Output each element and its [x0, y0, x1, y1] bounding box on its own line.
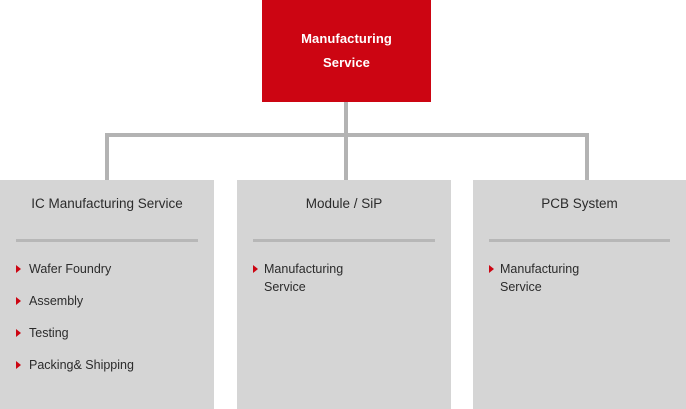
triangle-bullet-icon: [16, 265, 21, 273]
list-item-label: Wafer Foundry: [29, 262, 111, 276]
triangle-bullet-icon: [16, 329, 21, 337]
root-node-manufacturing-service[interactable]: Manufacturing Service: [262, 0, 431, 102]
list-item[interactable]: Assembly: [16, 292, 202, 310]
list-item[interactable]: Wafer Foundry: [16, 260, 202, 278]
list-item-label: Testing: [29, 326, 69, 340]
triangle-bullet-icon: [16, 297, 21, 305]
list-item[interactable]: Manufacturing Service: [489, 260, 674, 296]
triangle-bullet-icon: [253, 265, 258, 273]
connector-vertical-left: [105, 133, 109, 180]
list-item-label: Manufacturing Service: [264, 260, 360, 296]
triangle-bullet-icon: [489, 265, 494, 273]
triangle-bullet-icon: [16, 361, 21, 369]
panel-title: Module / SiP: [237, 194, 451, 214]
panel-module-sip[interactable]: Module / SiP Manufacturing Service: [237, 180, 451, 409]
org-chart-diagram: Manufacturing Service IC Manufacturing S…: [0, 0, 686, 409]
connector-vertical-right: [585, 133, 589, 180]
list-item[interactable]: Manufacturing Service: [253, 260, 439, 296]
panel-divider: [253, 239, 435, 242]
list-item-label: Packing& Shipping: [29, 358, 134, 372]
panel-item-list: Wafer Foundry Assembly Testing Packing& …: [16, 260, 202, 388]
list-item-label: Manufacturing Service: [500, 260, 596, 296]
panel-divider: [16, 239, 198, 242]
connector-vertical-root: [344, 102, 348, 180]
list-item[interactable]: Testing: [16, 324, 202, 342]
panel-pcb-system[interactable]: PCB System Manufacturing Service: [473, 180, 686, 409]
list-item-label: Assembly: [29, 294, 83, 308]
root-node-label-line1: Manufacturing: [301, 27, 392, 51]
panel-title: IC Manufacturing Service: [0, 194, 214, 214]
root-node-label-line2: Service: [323, 51, 370, 75]
panel-divider: [489, 239, 670, 242]
panel-item-list: Manufacturing Service: [489, 260, 674, 310]
connector-horizontal-bus: [105, 133, 589, 137]
panel-title: PCB System: [473, 194, 686, 214]
panel-ic-manufacturing-service[interactable]: IC Manufacturing Service Wafer Foundry A…: [0, 180, 214, 409]
list-item[interactable]: Packing& Shipping: [16, 356, 202, 374]
panel-item-list: Manufacturing Service: [253, 260, 439, 310]
